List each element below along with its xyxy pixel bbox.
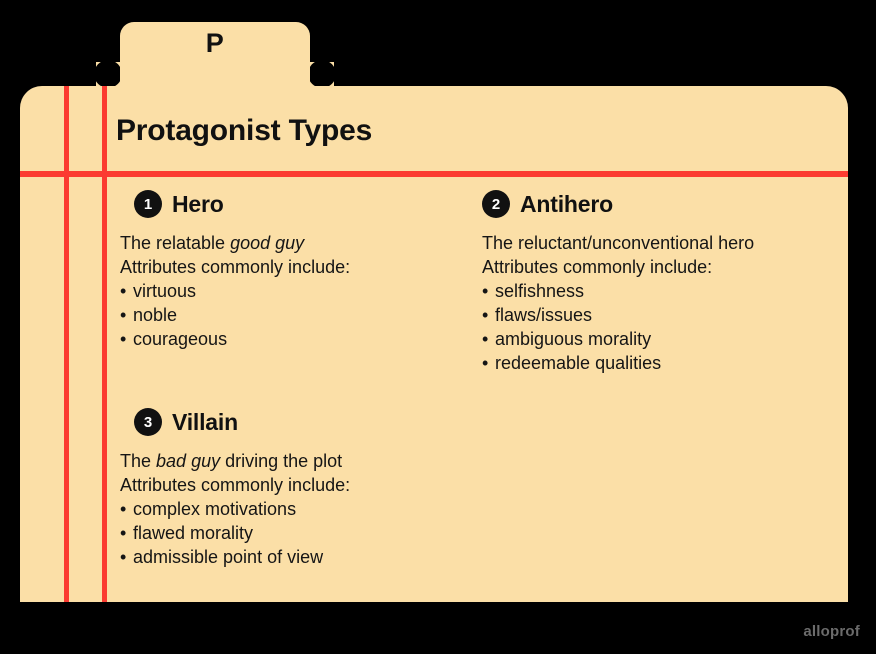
list-item: flawed morality [120, 522, 480, 546]
section-antihero-lead: The reluctant/unconventional hero [482, 232, 848, 256]
section-antihero-body: The reluctant/unconventional hero Attrib… [482, 232, 848, 376]
header-rule-line [20, 171, 848, 177]
section-antihero-header: 2 Antihero [482, 190, 848, 218]
folder-tab-shoulder-right [308, 62, 334, 88]
section-villain-bullets: complex motivations flawed morality admi… [120, 498, 480, 570]
list-item: ambiguous morality [482, 328, 848, 352]
folder-tab-shoulder-left [96, 62, 122, 88]
alloprof-logo: alloprof [803, 623, 860, 640]
section-hero-lead: The relatable good guy [120, 232, 480, 256]
section-villain-lead: The bad guy driving the plot [120, 450, 480, 474]
section-hero-header: 1 Hero [134, 190, 480, 218]
section-villain-body: The bad guy driving the plot Attributes … [120, 450, 480, 570]
section-hero-lead-emphasis: good guy [230, 233, 304, 253]
list-item: complex motivations [120, 498, 480, 522]
section-villain-lead-emphasis: bad guy [156, 451, 220, 471]
section-villain-lead-suffix: driving the plot [220, 451, 342, 471]
list-item: courageous [120, 328, 480, 352]
list-item: redeemable qualities [482, 352, 848, 376]
section-villain-lead-prefix: The [120, 451, 156, 471]
section-antihero-number-badge: 2 [482, 190, 510, 218]
page-title: Protagonist Types [116, 114, 372, 148]
list-item: noble [120, 304, 480, 328]
list-item: selfishness [482, 280, 848, 304]
folder-body: Protagonist Types 1 Hero The relatable g… [20, 86, 848, 602]
section-hero-number-badge: 1 [134, 190, 162, 218]
section-antihero-subtitle: Attributes commonly include: [482, 256, 848, 280]
section-antihero: 2 Antihero The reluctant/unconventional … [482, 190, 848, 376]
infographic-canvas: P Protagonist Types 1 Hero The relatable… [0, 0, 876, 654]
section-hero-bullets: virtuous noble courageous [120, 280, 480, 352]
section-antihero-bullets: selfishness flaws/issues ambiguous moral… [482, 280, 848, 376]
section-antihero-title: Antihero [520, 191, 613, 218]
list-item: admissible point of view [120, 546, 480, 570]
list-item: virtuous [120, 280, 480, 304]
folder-tab-letter: P [120, 28, 310, 59]
list-item: flaws/issues [482, 304, 848, 328]
section-hero-subtitle: Attributes commonly include: [120, 256, 480, 280]
section-hero-title: Hero [172, 191, 224, 218]
section-antihero-lead-prefix: The reluctant/unconventional hero [482, 233, 754, 253]
section-villain-subtitle: Attributes commonly include: [120, 474, 480, 498]
sections-container: 1 Hero The relatable good guy Attributes… [20, 182, 848, 602]
section-villain: 3 Villain The bad guy driving the plot A… [120, 408, 480, 570]
section-villain-header: 3 Villain [134, 408, 480, 436]
section-hero-body: The relatable good guy Attributes common… [120, 232, 480, 352]
section-hero: 1 Hero The relatable good guy Attributes… [120, 190, 480, 352]
section-villain-title: Villain [172, 409, 238, 436]
section-villain-number-badge: 3 [134, 408, 162, 436]
section-hero-lead-prefix: The relatable [120, 233, 230, 253]
